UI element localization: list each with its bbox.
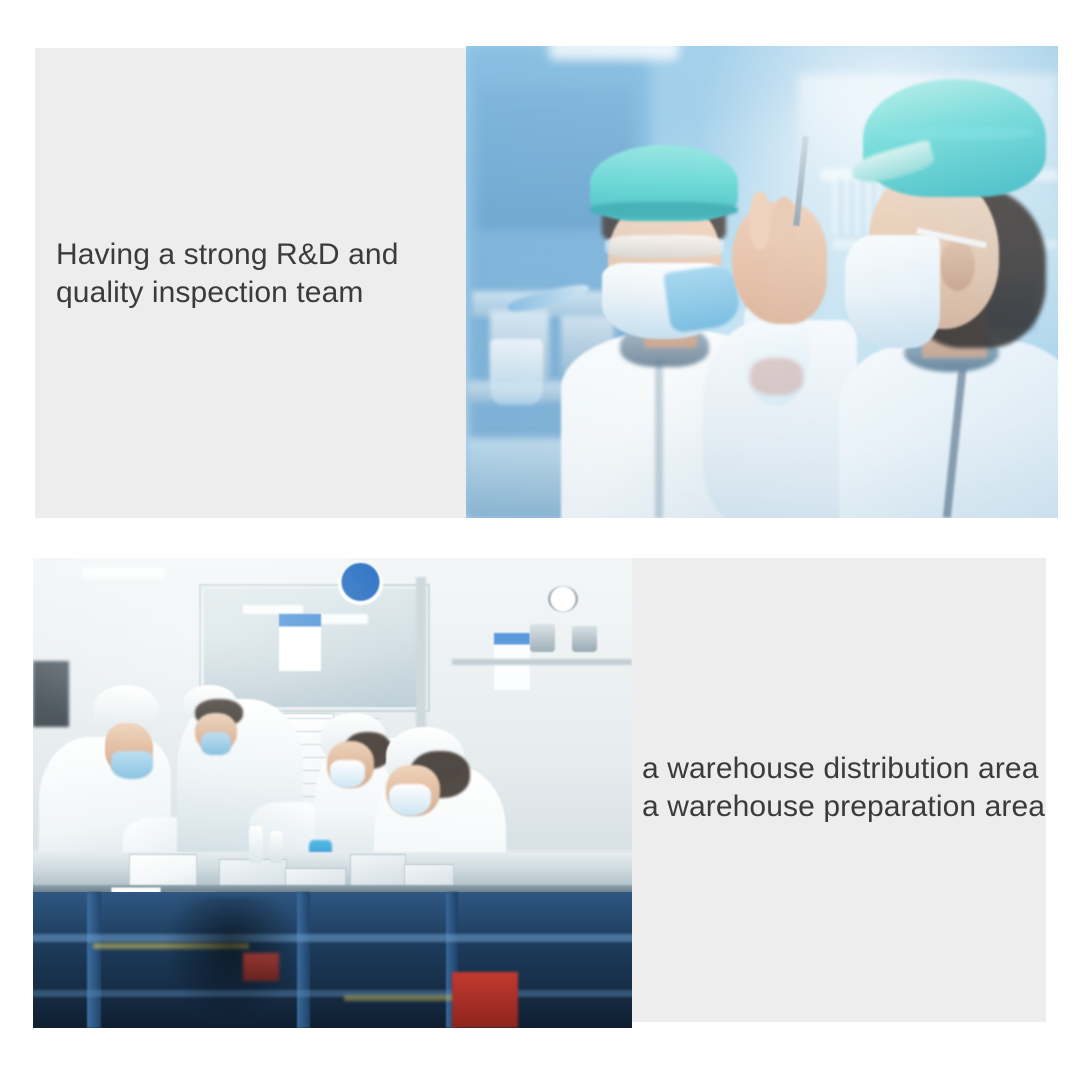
lab-flask-liquid <box>750 358 803 396</box>
top-photo-scene <box>466 46 1058 518</box>
technician-two-finger-a <box>750 192 770 249</box>
warehouse-notice-sign-a <box>279 614 321 670</box>
warehouse-door-frame <box>416 577 426 737</box>
top-caption-text: Having a strong R&D and quality inspecti… <box>56 236 456 313</box>
page-root: Having a strong R&D and quality inspecti… <box>0 0 1080 1080</box>
table-leg-a <box>87 892 101 1028</box>
section-top: Having a strong R&D and quality inspecti… <box>35 46 1058 518</box>
table-underside <box>33 892 632 1028</box>
warehouse-dark-corner <box>33 661 69 727</box>
table-rail-upper <box>33 934 632 942</box>
red-object-a <box>452 972 518 1028</box>
section-bottom: a warehouse distribution area a warehous… <box>33 558 1046 1028</box>
technician-two-finger-b <box>774 197 794 249</box>
warehouse-window-light-a <box>243 605 303 614</box>
bottom-caption-text: a warehouse distribution area a warehous… <box>642 750 1062 827</box>
bottom-photo-warehouse <box>33 558 632 1028</box>
worker-c-face-mask <box>330 760 366 788</box>
product-bottle-a <box>249 826 263 864</box>
worker-a-face-mask <box>111 751 153 779</box>
warehouse-window-light-b <box>315 614 369 623</box>
warehouse-wall-clock-icon <box>548 586 578 612</box>
warehouse-ceiling-light <box>81 567 165 577</box>
lab-ceiling-light <box>549 46 679 60</box>
technician-two-hairnet-fold <box>880 126 1034 140</box>
technician-one-safety-glasses <box>605 235 723 259</box>
red-object-b <box>243 953 279 981</box>
warehouse-steel-canister-a <box>530 624 555 652</box>
table-leg-b <box>297 892 310 1028</box>
warehouse-wall-logo-icon <box>338 563 383 605</box>
top-photo-lab-team <box>466 46 1058 518</box>
technician-one-hairnet-band <box>590 202 738 219</box>
warehouse-shelf-edge <box>452 659 632 665</box>
warehouse-steel-canister-b <box>572 626 597 652</box>
technician-one-coat-seam <box>655 358 662 518</box>
technician-two-ear <box>940 240 976 292</box>
technician-two-face-mask <box>845 235 940 348</box>
bottom-photo-scene <box>33 558 632 1028</box>
lab-beaker <box>490 339 543 405</box>
table-rail-lower <box>33 990 632 997</box>
product-bottle-b <box>270 831 283 864</box>
worker-b-face-mask <box>201 732 231 756</box>
